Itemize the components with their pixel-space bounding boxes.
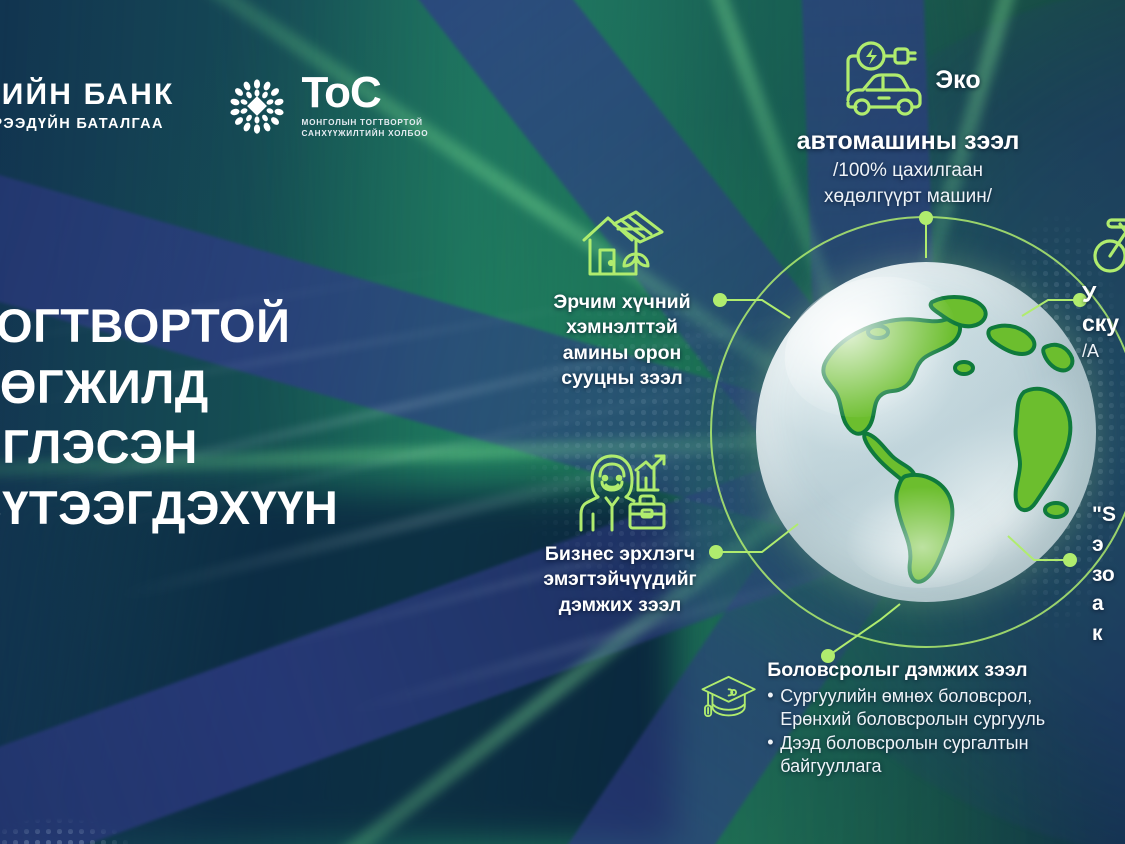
feature-eco-car-sub-line-2: хөдөлгүүрт машин/ [748, 185, 1068, 210]
headline-line-3: ИГЛЭСЭН [0, 417, 338, 478]
feature-clipped-right-line-1: "S [1092, 500, 1125, 530]
feature-clipped-right[interactable]: "S э зо а к [1092, 500, 1125, 649]
toc-subtitle-line-2: САНХҮҮЖИЛТИЙН ХОЛБОО [302, 128, 429, 139]
bank-logo: ӨРИЙН БАНК ҮЙ ИРЭЭДҮЙН БАТАЛГАА [0, 80, 175, 132]
bank-logo-name: ӨРИЙН БАНК [0, 80, 175, 110]
feature-education-title: Боловсролыг дэмжих зээл [767, 658, 1100, 683]
feature-bicycle-sub-line-1: /А [1082, 339, 1125, 363]
earth-globe [756, 262, 1096, 602]
feature-eco-car-title-line-2: автомашины зээл [748, 126, 1068, 157]
list-item: Дээд боловсролын сургалтын байгууллага [767, 732, 1100, 778]
feature-eco-car-sub-line-1: /100% цахилгаан [748, 159, 1068, 184]
electric-car-icon [835, 34, 927, 126]
headline: ТОГТВОРТОЙ ХӨГЖИЛД ИГЛЭСЭН БҮТЭЭГДЭХҮҮН [0, 296, 338, 539]
toc-logo: ToC МОНГОЛЫН ТОГТВОРТОЙ САНХҮҮЖИЛТИЙН ХО… [223, 72, 429, 140]
headline-line-4: БҮТЭЭГДЭХҮҮН [0, 478, 338, 539]
feature-clipped-right-line-3: зо [1092, 560, 1125, 590]
feature-energy-house-title-line-4: сууцны зээл [524, 366, 720, 391]
feature-education[interactable]: Боловсролыг дэмжих зээл Сургуулийн өмнөх… [700, 656, 1100, 779]
businesswoman-icon [568, 452, 672, 534]
feature-education-bullet-list: Сургуулийн өмнөх боловсрол, Ерөнхий боло… [767, 685, 1100, 778]
feature-eco-car-title-line-1: Эко [935, 65, 980, 96]
headline-line-2: ХӨГЖИЛД [0, 357, 338, 418]
feature-bicycle-title-line-2: ску [1082, 309, 1125, 338]
feature-bicycle[interactable]: У ску /А [1082, 212, 1125, 363]
globe-sphere [756, 262, 1096, 602]
bicycle-icon [1092, 212, 1125, 276]
feature-energy-house-title-line-1: Эрчим хүчний [524, 290, 720, 315]
list-item: Сургуулийн өмнөх боловсрол, Ерөнхий боло… [767, 685, 1100, 731]
feature-business-women-title-line-3: дэмжих зээл [514, 593, 726, 618]
solar-house-icon [574, 206, 670, 280]
feature-clipped-right-line-5: к [1092, 619, 1125, 649]
toc-burst-icon [223, 72, 291, 140]
bank-logo-tagline: ҮЙ ИРЭЭДҮЙН БАТАЛГАА [0, 117, 175, 132]
logo-row: ӨРИЙН БАНК ҮЙ ИРЭЭДҮЙН БАТАЛГАА [0, 72, 428, 140]
globe-continents-icon [756, 262, 1096, 602]
poster-canvas: ӨРИЙН БАНК ҮЙ ИРЭЭДҮЙН БАТАЛГАА [0, 0, 1125, 844]
feature-energy-house-title-line-3: амины орон [524, 341, 720, 366]
feature-bicycle-title-line-1: У [1082, 280, 1125, 309]
feature-energy-house[interactable]: Эрчим хүчний хэмнэлттэй амины орон сууцн… [524, 206, 720, 391]
feature-energy-house-title-line-2: хэмнэлттэй [524, 315, 720, 340]
toc-wordmark: ToC [302, 73, 429, 113]
feature-business-women[interactable]: Бизнес эрхлэгч эмэгтэйчүүдийг дэмжих зээ… [514, 452, 726, 618]
toc-subtitle-line-1: МОНГОЛЫН ТОГТВОРТОЙ [302, 117, 429, 128]
feature-business-women-title-line-2: эмэгтэйчүүдийг [514, 567, 726, 592]
graduation-cap-icon [700, 656, 757, 740]
headline-line-1: ТОГТВОРТОЙ [0, 296, 338, 357]
feature-clipped-right-line-4: а [1092, 589, 1125, 619]
feature-clipped-right-line-2: э [1092, 530, 1125, 560]
feature-business-women-title-line-1: Бизнес эрхлэгч [514, 542, 726, 567]
feature-eco-car[interactable]: Эко автомашины зээл /100% цахилгаан хөдө… [748, 34, 1068, 210]
